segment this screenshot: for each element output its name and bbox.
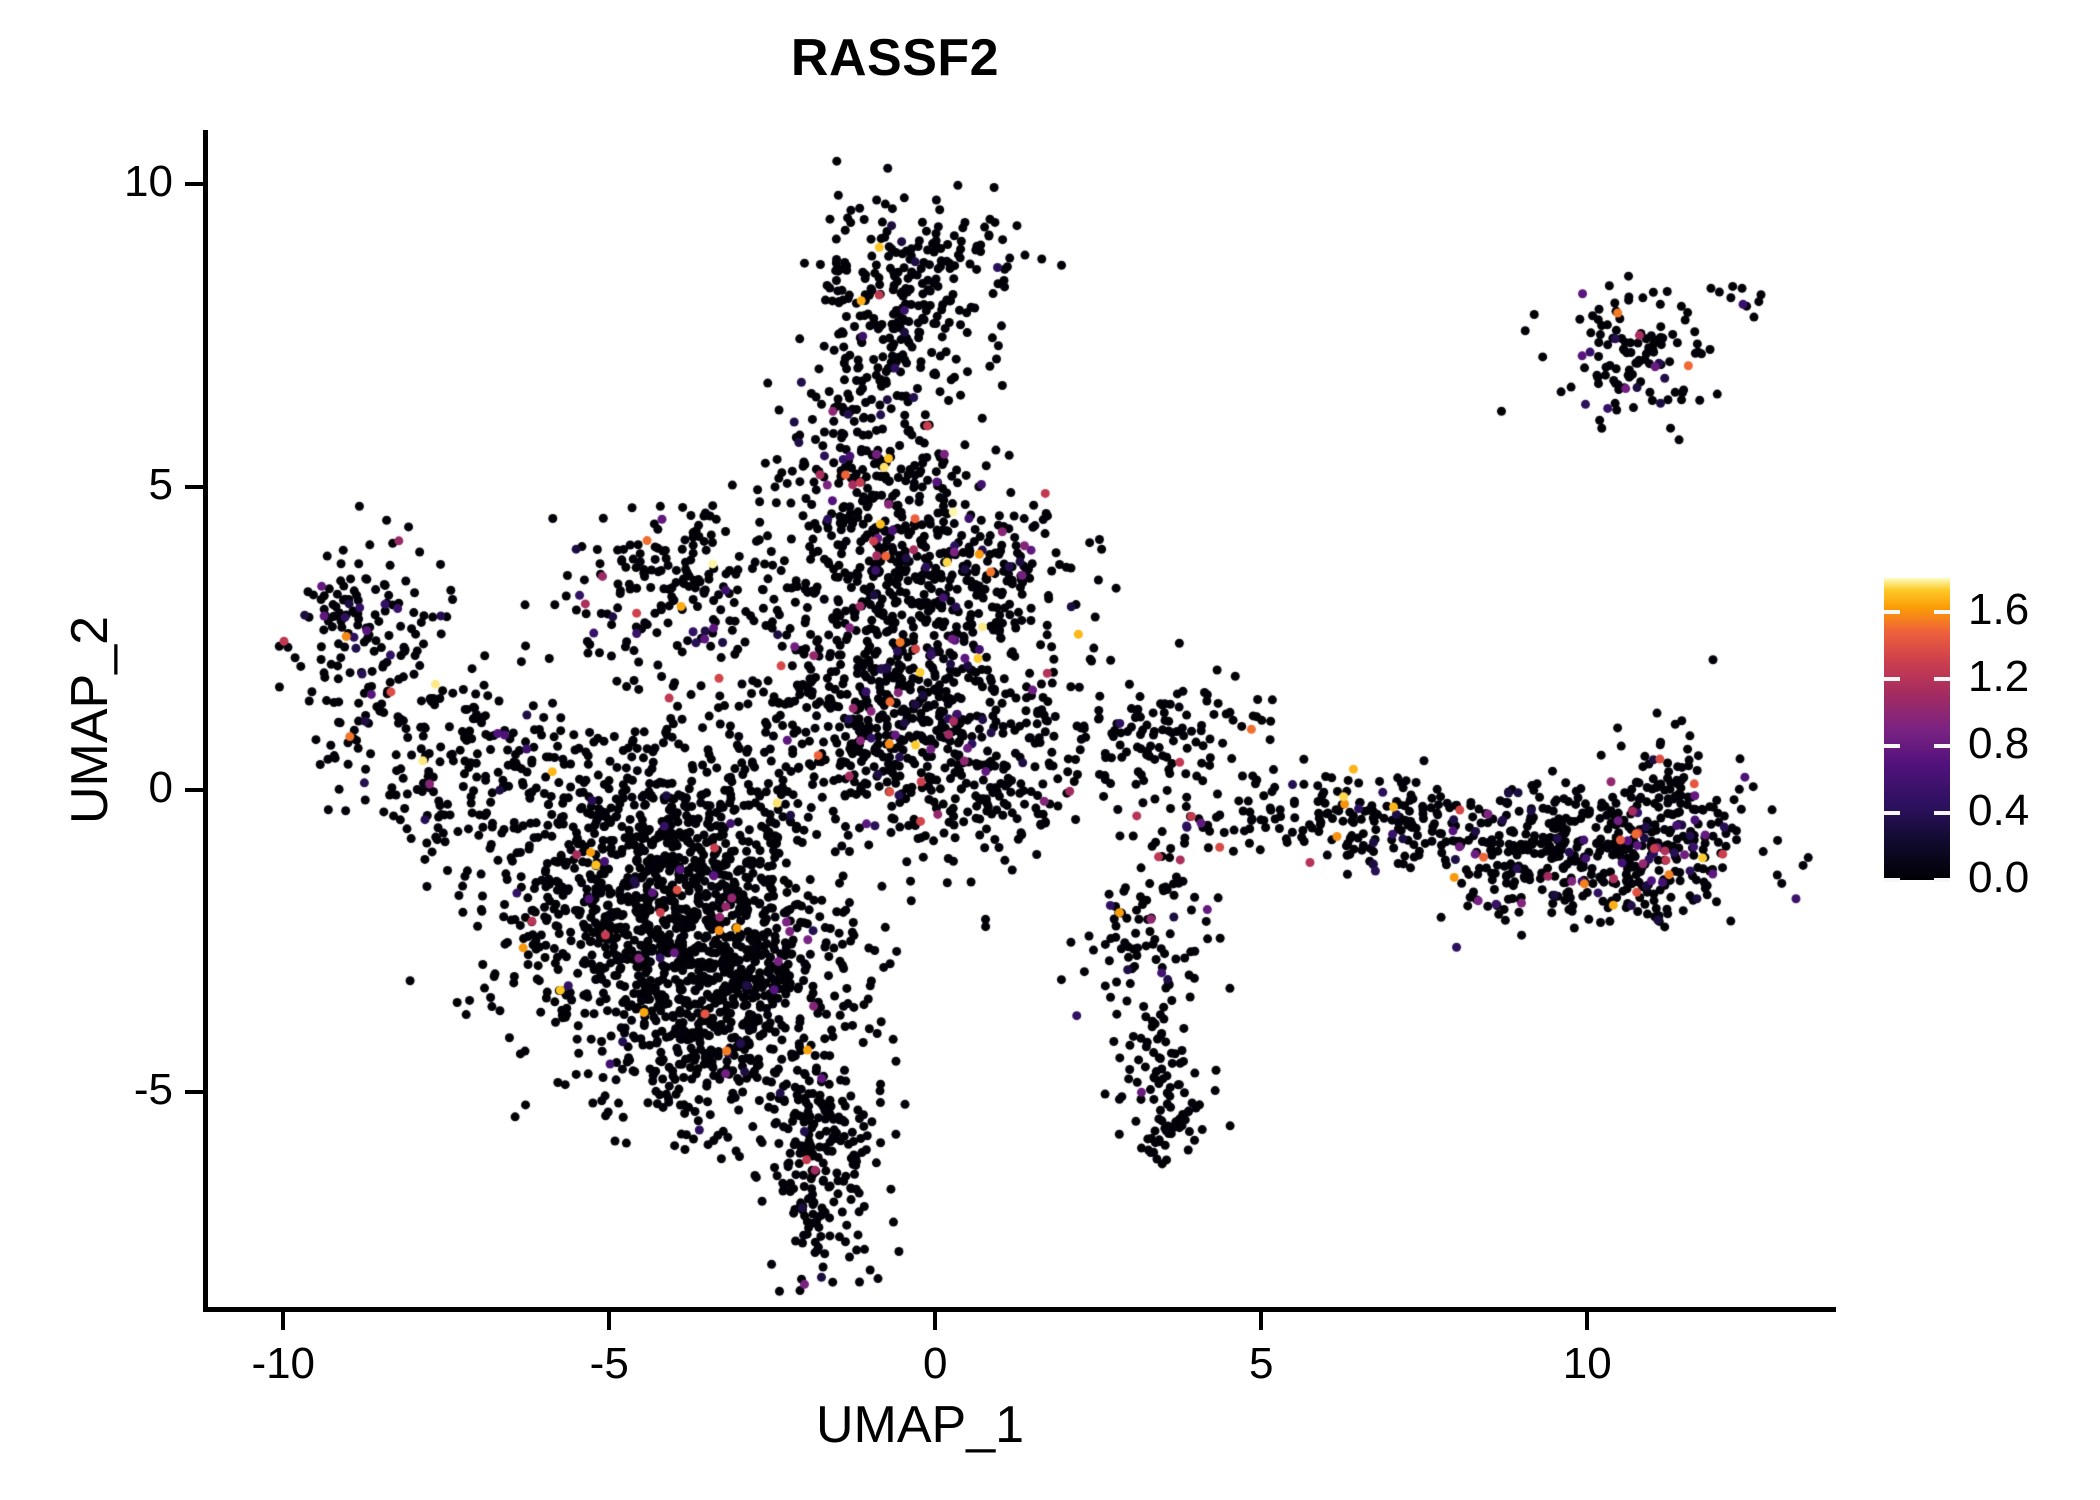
x-axis-title: UMAP_1 (600, 1395, 1240, 1455)
colorbar-tick-mark (1934, 677, 1950, 681)
y-tick-mark (185, 485, 203, 489)
colorbar-tick-label: 1.6 (1968, 588, 2029, 632)
x-tick-mark (933, 1312, 937, 1330)
y-axis-title: UMAP_2 (60, 400, 120, 1040)
colorbar-tick-mark (1884, 677, 1900, 681)
umap-figure: RASSF2 1050-5 -10-50510 UMAP_1 UMAP_2 1.… (0, 0, 2100, 1500)
colorbar-legend: 1.61.20.80.40.0 (1884, 578, 2094, 880)
colorbar-tick-label: 1.2 (1968, 655, 2029, 699)
y-tick-label: 10 (5, 160, 173, 204)
x-tick-mark (1585, 1312, 1589, 1330)
x-axis-line (203, 1307, 1836, 1312)
x-tick-mark (607, 1312, 611, 1330)
colorbar-tick-mark (1934, 744, 1950, 748)
x-tick-label: -10 (183, 1342, 383, 1386)
colorbar-tick-mark (1884, 878, 1900, 882)
x-tick-label: 5 (1161, 1342, 1361, 1386)
y-tick-label: -5 (5, 1068, 173, 1112)
colorbar-tick-label: 0.4 (1968, 789, 2029, 833)
x-tick-label: 10 (1487, 1342, 1687, 1386)
y-tick-mark (185, 1090, 203, 1094)
y-axis-line (203, 130, 208, 1311)
x-tick-mark (1259, 1312, 1263, 1330)
colorbar-tick-mark (1884, 744, 1900, 748)
scatter-plot-canvas (205, 130, 1835, 1310)
x-tick-mark (281, 1312, 285, 1330)
plot-panel (205, 130, 1835, 1310)
colorbar-tick-mark (1934, 811, 1950, 815)
colorbar-tick-mark (1934, 610, 1950, 614)
colorbar-tick-mark (1934, 878, 1950, 882)
y-tick-mark (185, 788, 203, 792)
colorbar-gradient (1884, 578, 1950, 880)
x-tick-label: -5 (509, 1342, 709, 1386)
colorbar-tick-mark (1884, 610, 1900, 614)
colorbar-tick-label: 0.8 (1968, 722, 2029, 766)
x-tick-label: 0 (835, 1342, 1035, 1386)
colorbar-tick-mark (1884, 811, 1900, 815)
page-title: RASSF2 (0, 28, 1790, 88)
y-tick-mark (185, 182, 203, 186)
colorbar-tick-label: 0.0 (1968, 856, 2029, 900)
